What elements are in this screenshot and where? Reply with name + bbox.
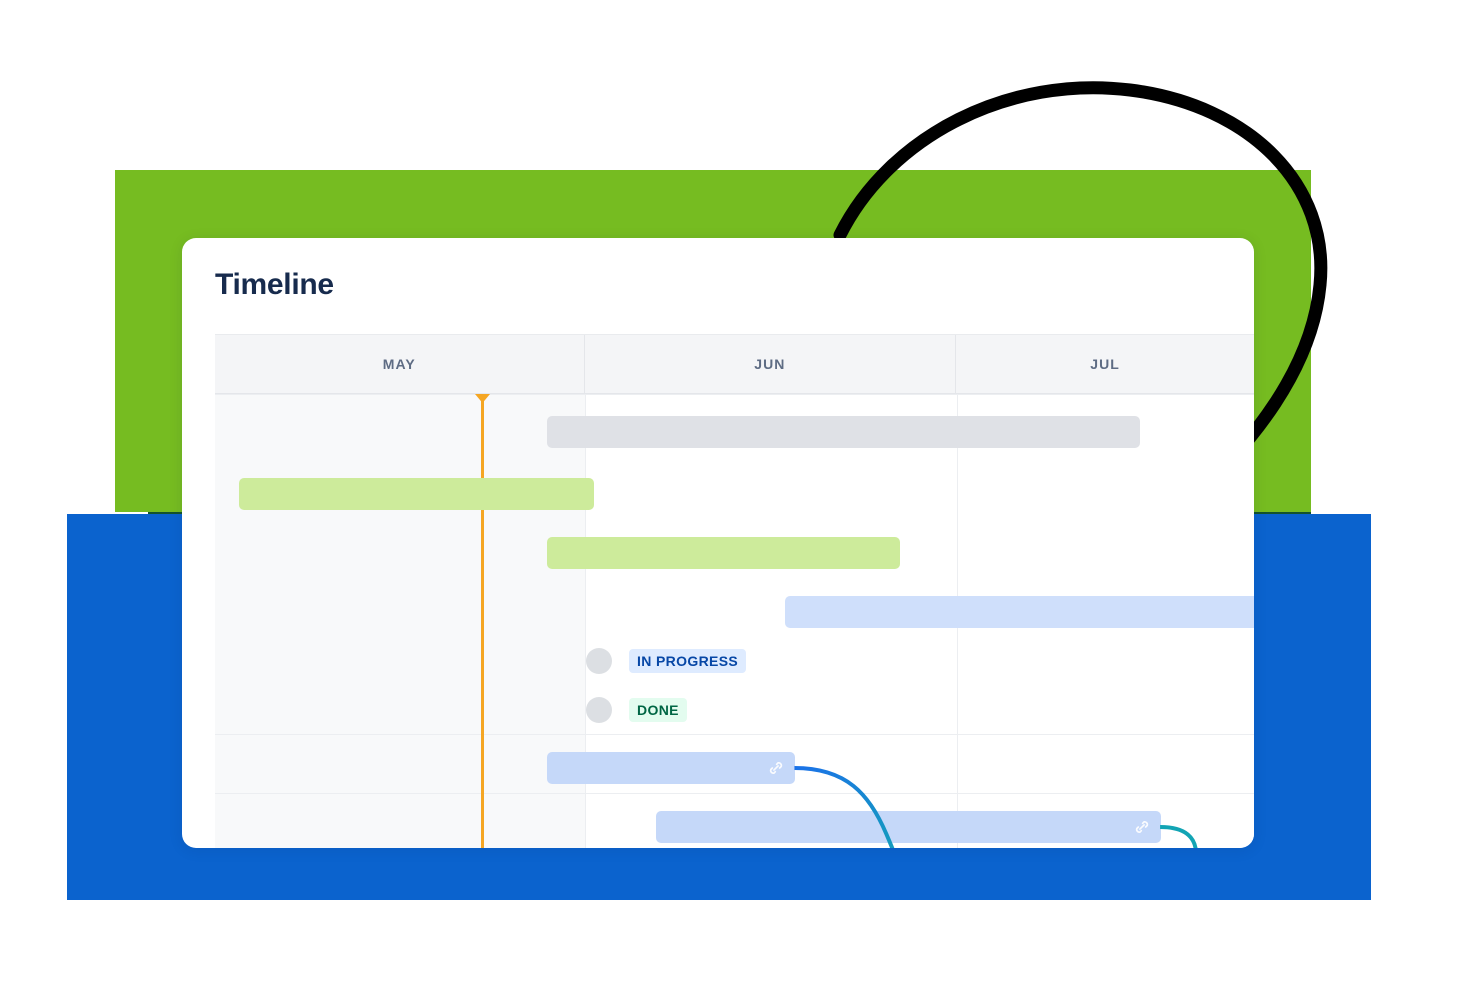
chain-link-icon[interactable]	[766, 758, 786, 778]
page-title: Timeline	[215, 268, 334, 302]
timeline-bar-blue-3[interactable]	[656, 811, 1161, 843]
timeline-bar-green-1[interactable]	[239, 478, 594, 510]
chain-link-icon[interactable]	[1132, 817, 1152, 837]
today-marker-line	[481, 394, 484, 848]
row-separator	[215, 793, 1254, 794]
status-avatar	[586, 697, 612, 723]
timeline-bar-blue-2[interactable]	[547, 752, 795, 784]
timeline-body[interactable]: IN PROGRESS DONE	[215, 394, 1254, 848]
status-row-done[interactable]: DONE	[586, 697, 687, 723]
status-row-in-progress[interactable]: IN PROGRESS	[586, 648, 746, 674]
row-separator	[215, 394, 1254, 395]
timeline-card: Timeline MAY JUN JUL	[182, 238, 1254, 848]
connector-curve-2	[1160, 827, 1196, 848]
column-tint-may	[215, 394, 585, 848]
row-separator	[215, 734, 1254, 735]
status-badge[interactable]: IN PROGRESS	[629, 649, 746, 673]
month-column-jul[interactable]: JUL	[955, 335, 1254, 393]
status-avatar	[586, 648, 612, 674]
timeline-bar-blue-1[interactable]	[785, 596, 1254, 628]
status-badge[interactable]: DONE	[629, 698, 687, 722]
timeline-bar-green-2[interactable]	[547, 537, 900, 569]
timeline-grid: MAY JUN JUL	[215, 334, 1254, 848]
screenshot-stage: Timeline MAY JUN JUL	[0, 0, 1468, 981]
timeline-month-header: MAY JUN JUL	[215, 334, 1254, 394]
month-column-jun[interactable]: JUN	[584, 335, 956, 393]
timeline-bar-grey[interactable]	[547, 416, 1140, 448]
month-column-may[interactable]: MAY	[215, 335, 584, 393]
